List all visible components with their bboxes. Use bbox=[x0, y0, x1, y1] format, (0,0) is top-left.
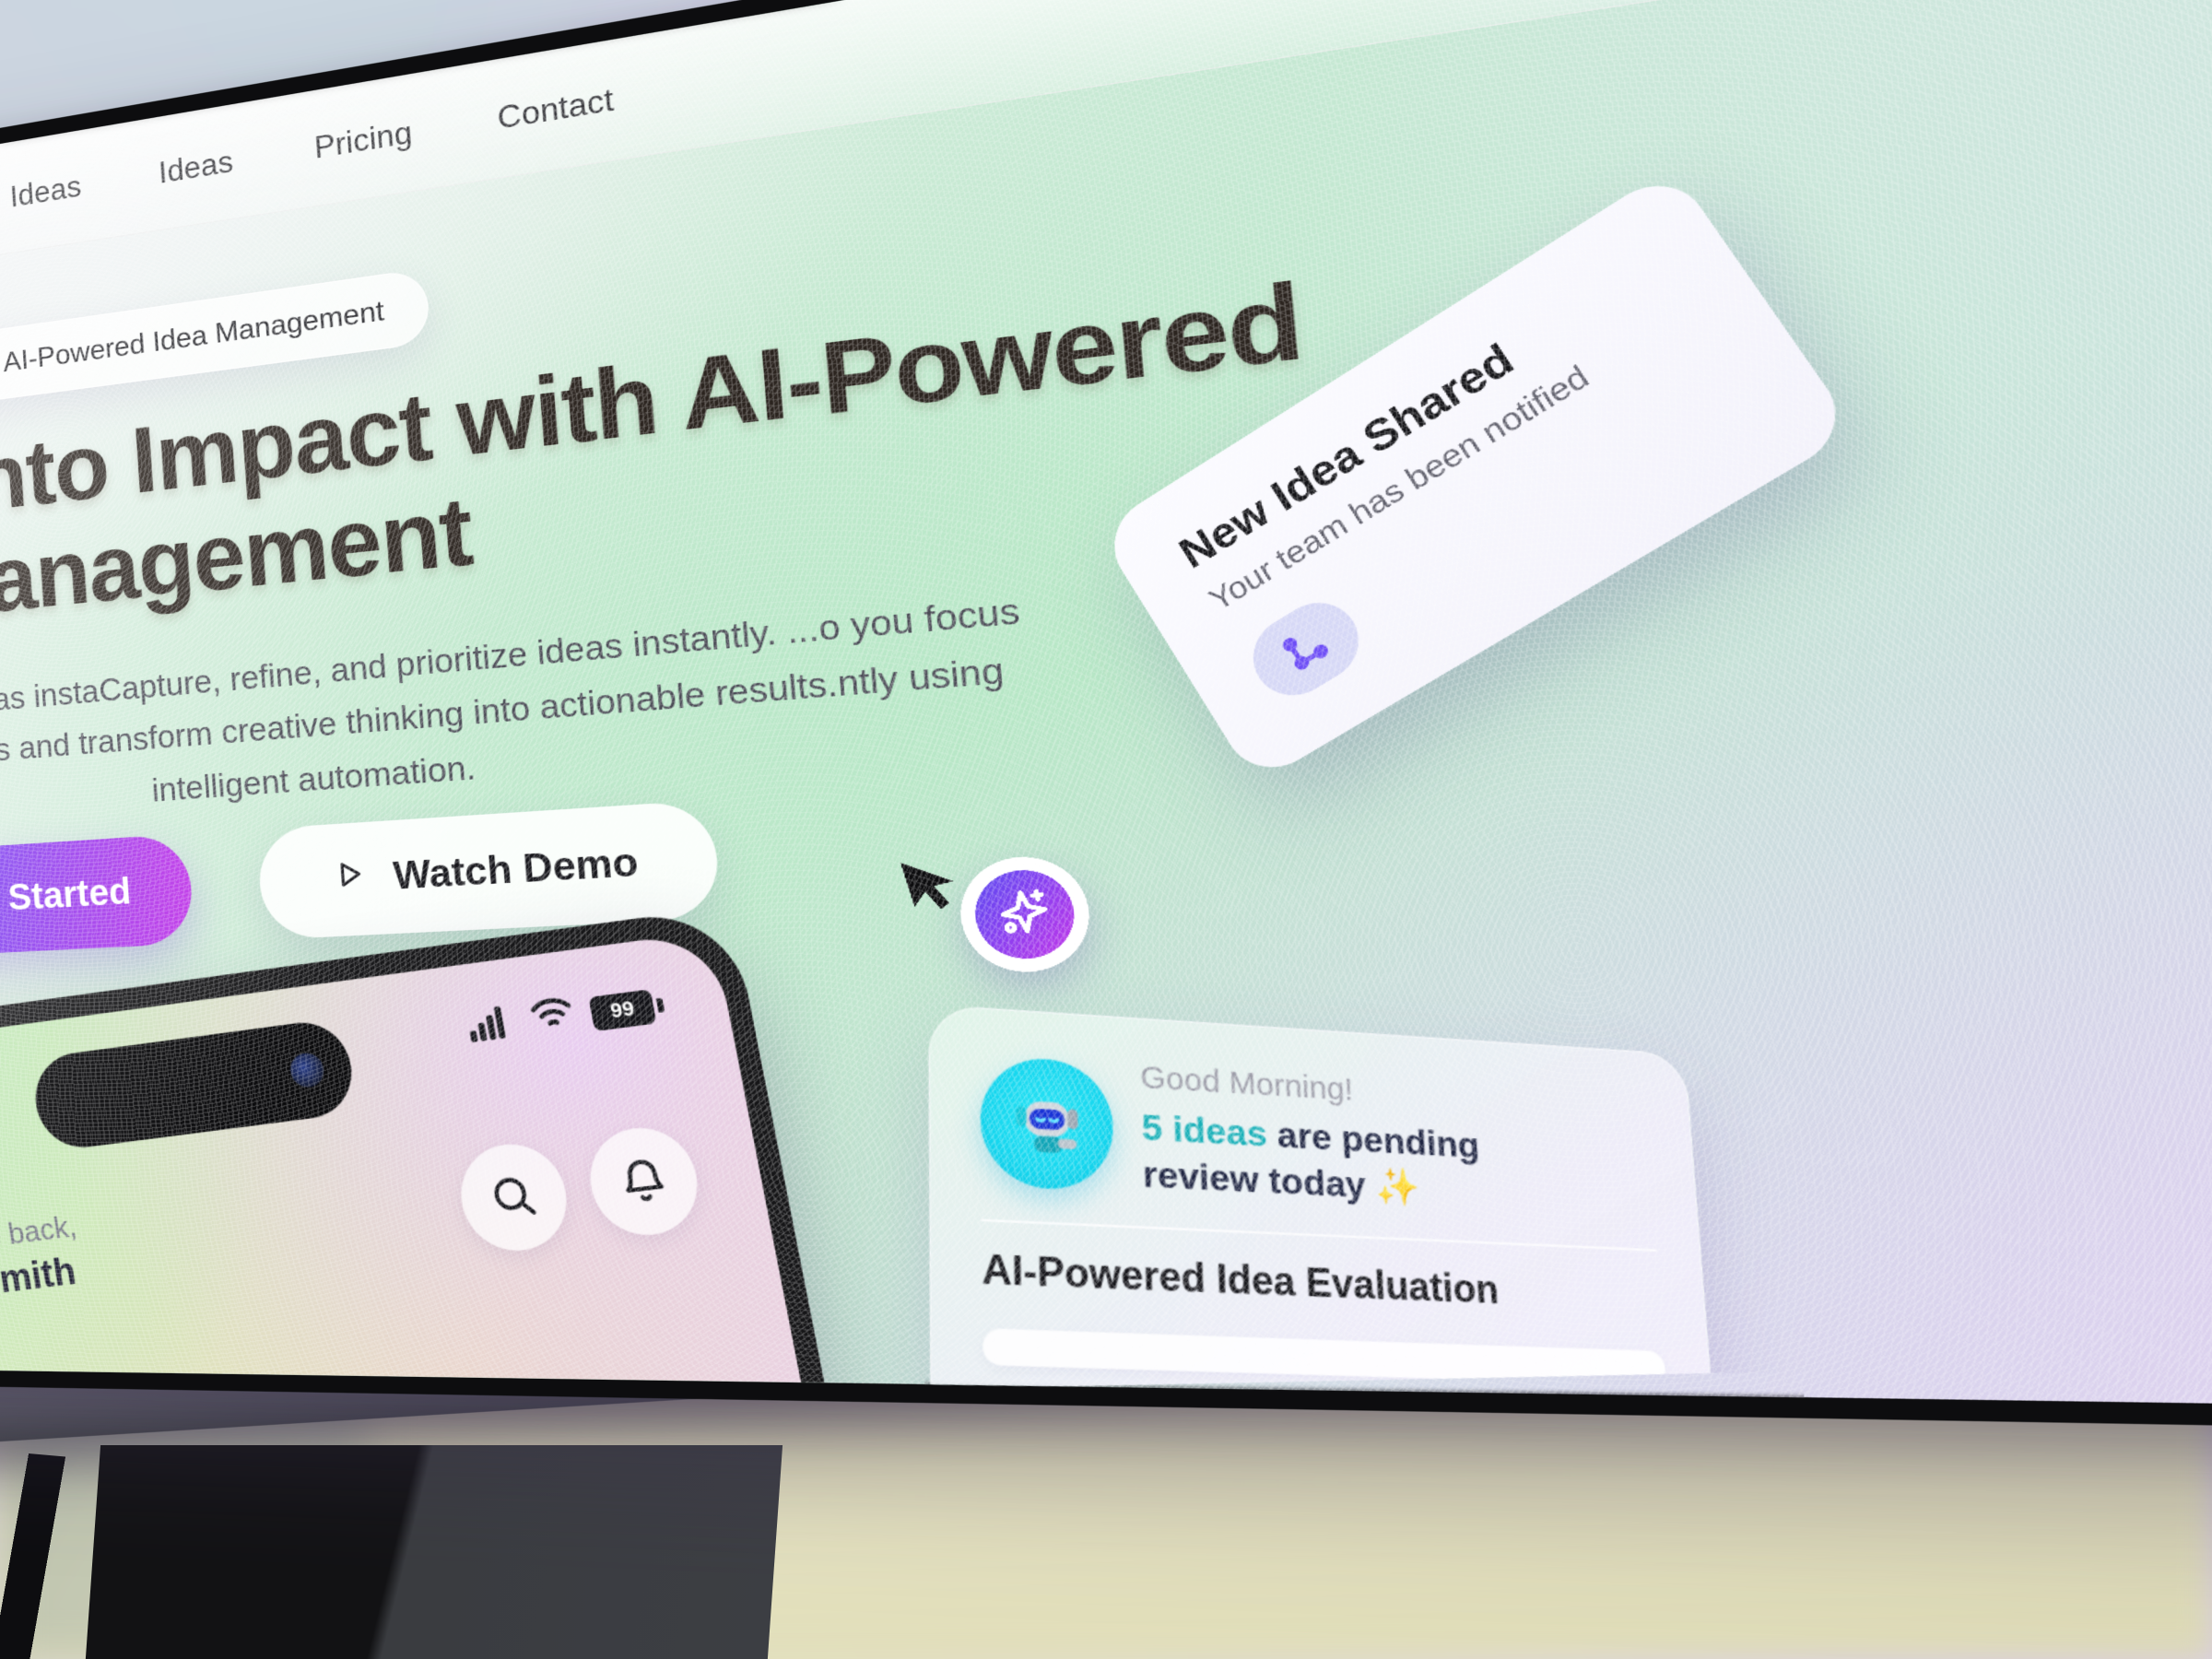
bell-icon[interactable] bbox=[582, 1122, 706, 1241]
nav-link-ideas-2[interactable]: Ideas bbox=[158, 144, 234, 191]
robot-avatar-icon bbox=[981, 1054, 1122, 1193]
ideas-count: 5 ideas bbox=[1153, 1107, 1291, 1157]
phone-header: Welcome back, Alex Smith bbox=[0, 1118, 707, 1345]
eval-card-title: AI-Powered Idea Evaluation bbox=[980, 1245, 1747, 1337]
get-started-label: Get Started bbox=[0, 871, 133, 923]
eval-card-header: Good Morning! 5 ideas are pending review… bbox=[981, 1050, 1743, 1233]
status-indicators: 99 bbox=[465, 982, 667, 1051]
watch-demo-label: Watch Demo bbox=[392, 841, 640, 899]
welcome-text: Welcome back, Alex Smith bbox=[0, 1209, 87, 1314]
front-camera-icon bbox=[288, 1052, 326, 1089]
hero-badge-label: AI-Powered Idea Management bbox=[2, 295, 385, 379]
nav-link-ideas-1[interactable]: Ideas bbox=[9, 169, 83, 214]
battery-cap bbox=[656, 997, 665, 1012]
user-name: Alex Smith bbox=[0, 1249, 87, 1315]
nav-link-pricing[interactable]: Pricing bbox=[313, 114, 414, 166]
share-nodes-icon bbox=[1239, 588, 1374, 711]
ai-evaluation-card[interactable]: Good Morning! 5 ideas are pending review… bbox=[923, 1005, 1816, 1414]
play-icon bbox=[328, 854, 371, 905]
dynamic-island bbox=[29, 1018, 359, 1153]
hero-subtitle: ...ne, and prioritize ideas instaCapture… bbox=[0, 582, 1036, 846]
sparkle-icon bbox=[968, 865, 1081, 964]
battery-indicator: 99 bbox=[588, 987, 666, 1030]
phone-header-actions bbox=[453, 1122, 706, 1256]
monitor-stand-neck bbox=[84, 1445, 782, 1659]
pending-rest: are pending bbox=[1290, 1115, 1535, 1171]
pending-review-text: 5 ideas are pending review today ✨ bbox=[1152, 1105, 1536, 1221]
monitor-cable bbox=[0, 1452, 121, 1659]
eval-card-text: Good Morning! 5 ideas are pending review… bbox=[1152, 1059, 1536, 1221]
nav-link-contact[interactable]: Contact bbox=[496, 81, 615, 136]
cellular-signal-icon bbox=[465, 1003, 519, 1052]
search-icon[interactable] bbox=[453, 1138, 575, 1256]
monitor-screen: About Ideas Ideas Pricing Contact Login bbox=[0, 0, 2212, 1414]
phone-mockup: 9:41 bbox=[0, 906, 982, 1414]
new-idea-shared-card[interactable]: New Idea Shared Your team has been notif… bbox=[1097, 166, 1856, 784]
monitor: About Ideas Ideas Pricing Contact Login bbox=[0, 0, 2212, 1438]
get-started-button[interactable]: Get Started bbox=[0, 833, 194, 960]
website-page: About Ideas Ideas Pricing Contact Login bbox=[0, 0, 2212, 1414]
battery-level: 99 bbox=[588, 989, 656, 1031]
wifi-icon bbox=[526, 994, 580, 1043]
mouse-pointer-icon bbox=[891, 844, 976, 930]
